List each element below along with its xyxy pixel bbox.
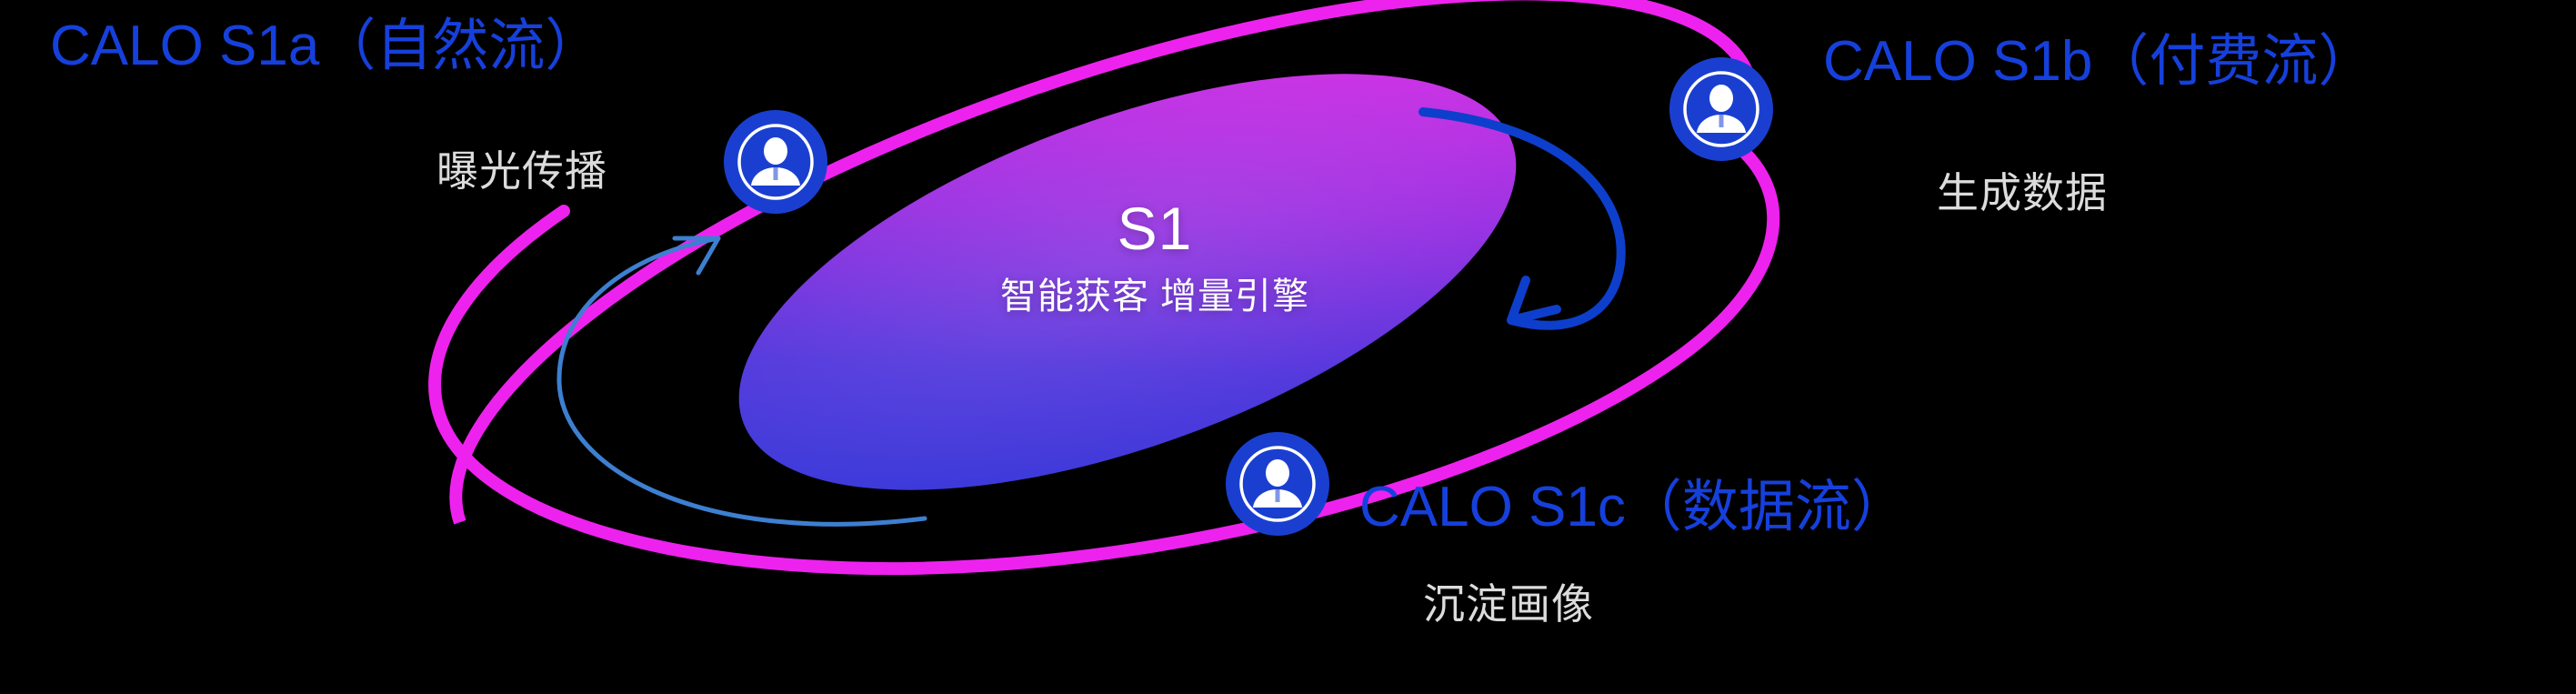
core-ellipse bbox=[687, 0, 1569, 576]
node-s1a[interactable] bbox=[724, 110, 827, 214]
orbit-diagram-svg bbox=[0, 0, 2576, 694]
node-s1b[interactable] bbox=[1669, 57, 1773, 161]
node-s1c[interactable] bbox=[1226, 432, 1329, 536]
diagram-canvas: S1 智能获客 增量引擎 CALO S1a（自然流） 曝光传播 CALO S1b… bbox=[0, 0, 2576, 694]
